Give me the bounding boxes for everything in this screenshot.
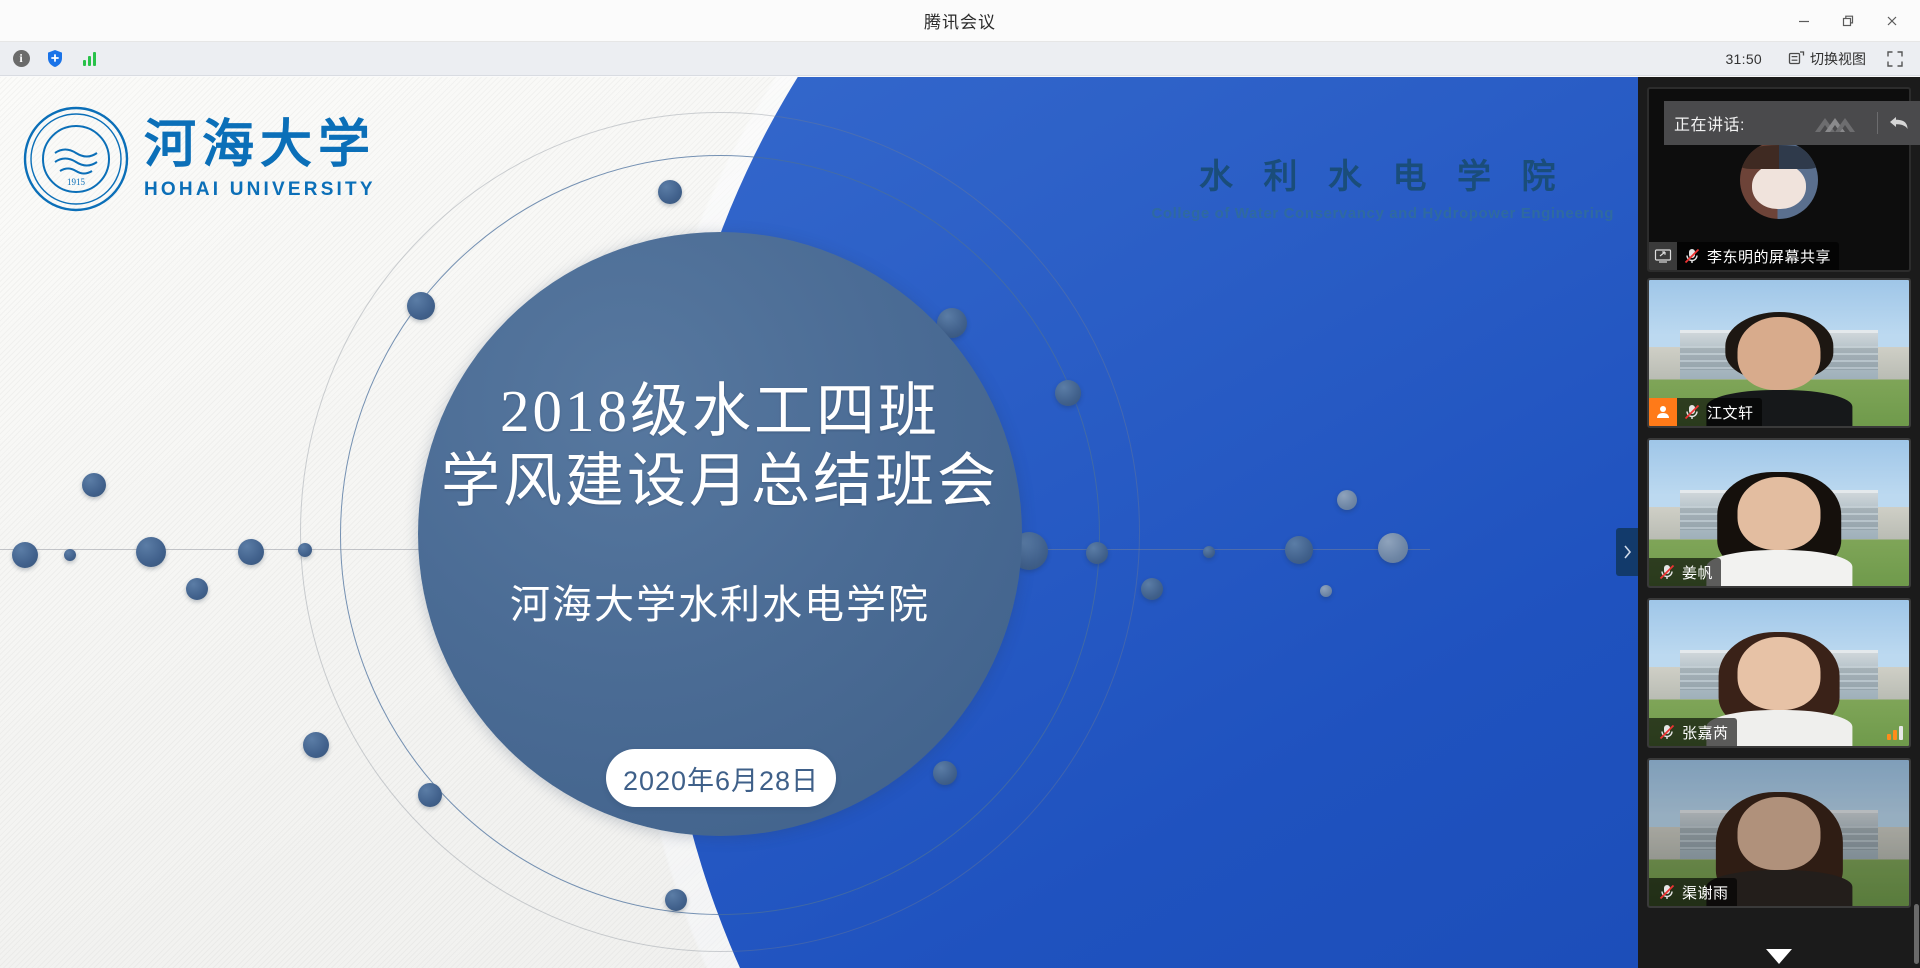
- slide-title: 2018级水工四班 学风建设月总结班会: [418, 377, 1022, 516]
- host-icon: [1649, 398, 1677, 426]
- university-name-cn: 河海大学: [144, 120, 376, 172]
- switch-view-button[interactable]: 切换视图: [1782, 46, 1872, 72]
- signal-bars: [83, 52, 96, 66]
- participant-tile[interactable]: 江文轩: [1647, 278, 1911, 428]
- active-speaker-bar: 正在讲话:: [1664, 101, 1920, 145]
- slide-dot: [136, 537, 166, 567]
- slide-subtitle: 河海大学水利水电学院: [418, 572, 1022, 630]
- slide-dot: [665, 889, 687, 911]
- filmstrip-scrollbar[interactable]: [1914, 904, 1919, 964]
- slide-dot: [64, 549, 76, 561]
- slide-dot: [418, 783, 442, 807]
- info-glyph: i: [13, 50, 30, 67]
- participant-tile[interactable]: 渠谢雨: [1647, 758, 1911, 908]
- slide-dot: [933, 761, 957, 785]
- person-head: [1737, 797, 1821, 870]
- mm-logo-icon: [1811, 110, 1867, 136]
- participant-name: 江文轩: [1707, 402, 1754, 423]
- scroll-down-arrow-icon[interactable]: [1766, 949, 1792, 964]
- mic-muted-icon: [1682, 246, 1702, 266]
- window-controls: [1782, 0, 1914, 42]
- participant-name: 李东明的屏幕共享: [1707, 246, 1831, 267]
- restore-icon[interactable]: [1826, 0, 1870, 42]
- person-head: [1737, 637, 1821, 710]
- switch-view-label: 切换视图: [1810, 49, 1866, 69]
- slide-dot: [1337, 490, 1357, 510]
- college-name-en: College of Water Conservancy and Hydropo…: [1151, 205, 1614, 222]
- collapse-filmstrip-button[interactable]: [1616, 528, 1638, 576]
- participant-name: 姜帆: [1682, 562, 1713, 583]
- slide-dot: [1378, 533, 1408, 563]
- slide-dot: [1055, 380, 1081, 406]
- slide-core-circle: [418, 232, 1022, 836]
- slide-dot: [658, 180, 682, 204]
- participant-filmstrip[interactable]: 正在讲话:: [1638, 77, 1920, 968]
- slide-title-line2: 学风建设月总结班会: [418, 447, 1022, 517]
- shared-screen-stage[interactable]: 1915 河海大学 HOHAI UNIVERSITY 水 利 水 电 学 院 C…: [0, 77, 1638, 968]
- meeting-timer: 31:50: [1715, 49, 1772, 69]
- participant-name: 张嘉芮: [1682, 722, 1729, 743]
- toolbar-left-group: i: [0, 46, 102, 72]
- university-logo: 1915 河海大学 HOHAI UNIVERSITY: [22, 105, 376, 213]
- participant-namebar: 渠谢雨: [1649, 878, 1737, 906]
- minimize-icon[interactable]: [1782, 0, 1826, 42]
- participant-tile[interactable]: 张嘉芮: [1647, 598, 1911, 748]
- slide-dot: [1320, 585, 1332, 597]
- close-icon[interactable]: [1870, 0, 1914, 42]
- mic-muted-icon: [1657, 882, 1677, 902]
- slide-title-line1: 2018级水工四班: [418, 377, 1022, 447]
- slide-dot: [186, 578, 208, 600]
- avatar: [1740, 141, 1818, 219]
- switch-view-icon: [1788, 50, 1805, 67]
- participant-namebar: 姜帆: [1649, 558, 1721, 586]
- participant-namebar: 李东明的屏幕共享: [1649, 242, 1839, 270]
- mic-muted-icon: [1682, 402, 1702, 422]
- toolbar-right-group: 31:50 切换视图: [1715, 46, 1920, 72]
- svg-text:1915: 1915: [67, 177, 86, 187]
- participant-tile[interactable]: 姜帆: [1647, 438, 1911, 588]
- info-icon[interactable]: i: [8, 46, 34, 72]
- mic-muted-icon: [1657, 562, 1677, 582]
- back-arrow-icon[interactable]: [1888, 113, 1910, 133]
- chevron-right-icon: [1622, 544, 1633, 560]
- network-signal-icon[interactable]: [76, 46, 102, 72]
- participant-namebar: 江文轩: [1649, 398, 1762, 426]
- slide-dot: [298, 543, 312, 557]
- presentation-slide: 1915 河海大学 HOHAI UNIVERSITY 水 利 水 电 学 院 C…: [0, 77, 1638, 968]
- slide-dot: [1203, 546, 1215, 558]
- slide-dot: [407, 292, 435, 320]
- participant-video-person: [1711, 472, 1846, 586]
- slide-dot: [238, 539, 264, 565]
- slide-dot: [1141, 578, 1163, 600]
- meeting-toolbar: i 31:50 切换视: [0, 42, 1920, 76]
- person-body: [1706, 550, 1852, 586]
- university-name-en: HOHAI UNIVERSITY: [144, 180, 376, 199]
- speaking-bar-divider: [1877, 112, 1878, 134]
- university-name-block: 河海大学 HOHAI UNIVERSITY: [144, 120, 376, 199]
- slide-dot: [82, 473, 106, 497]
- slide-dot: [12, 542, 38, 568]
- participant-namebar: 张嘉芮: [1649, 718, 1737, 746]
- slide-dot: [1285, 536, 1313, 564]
- screen-share-icon: [1649, 242, 1677, 270]
- fullscreen-icon[interactable]: [1882, 46, 1908, 72]
- participant-name: 渠谢雨: [1682, 882, 1729, 903]
- network-quality-icon: [1887, 726, 1903, 740]
- slide-dot: [303, 732, 329, 758]
- security-shield-icon[interactable]: [42, 46, 68, 72]
- slide-date-badge: 2020年6月28日: [606, 749, 836, 807]
- tencent-meeting-window: 腾讯会议 i: [0, 0, 1920, 968]
- person-head: [1737, 317, 1821, 390]
- hohai-seal-icon: 1915: [22, 105, 130, 213]
- college-lockup: 水 利 水 电 学 院 College of Water Conservancy…: [1151, 149, 1614, 222]
- mic-muted-icon: [1657, 722, 1677, 742]
- window-titlebar: 腾讯会议: [0, 0, 1920, 42]
- person-head: [1737, 477, 1821, 550]
- window-title: 腾讯会议: [924, 8, 996, 33]
- college-name-cn: 水 利 水 电 学 院: [1151, 149, 1614, 198]
- slide-dot: [1086, 542, 1108, 564]
- active-speaker-label: 正在讲话:: [1674, 111, 1745, 135]
